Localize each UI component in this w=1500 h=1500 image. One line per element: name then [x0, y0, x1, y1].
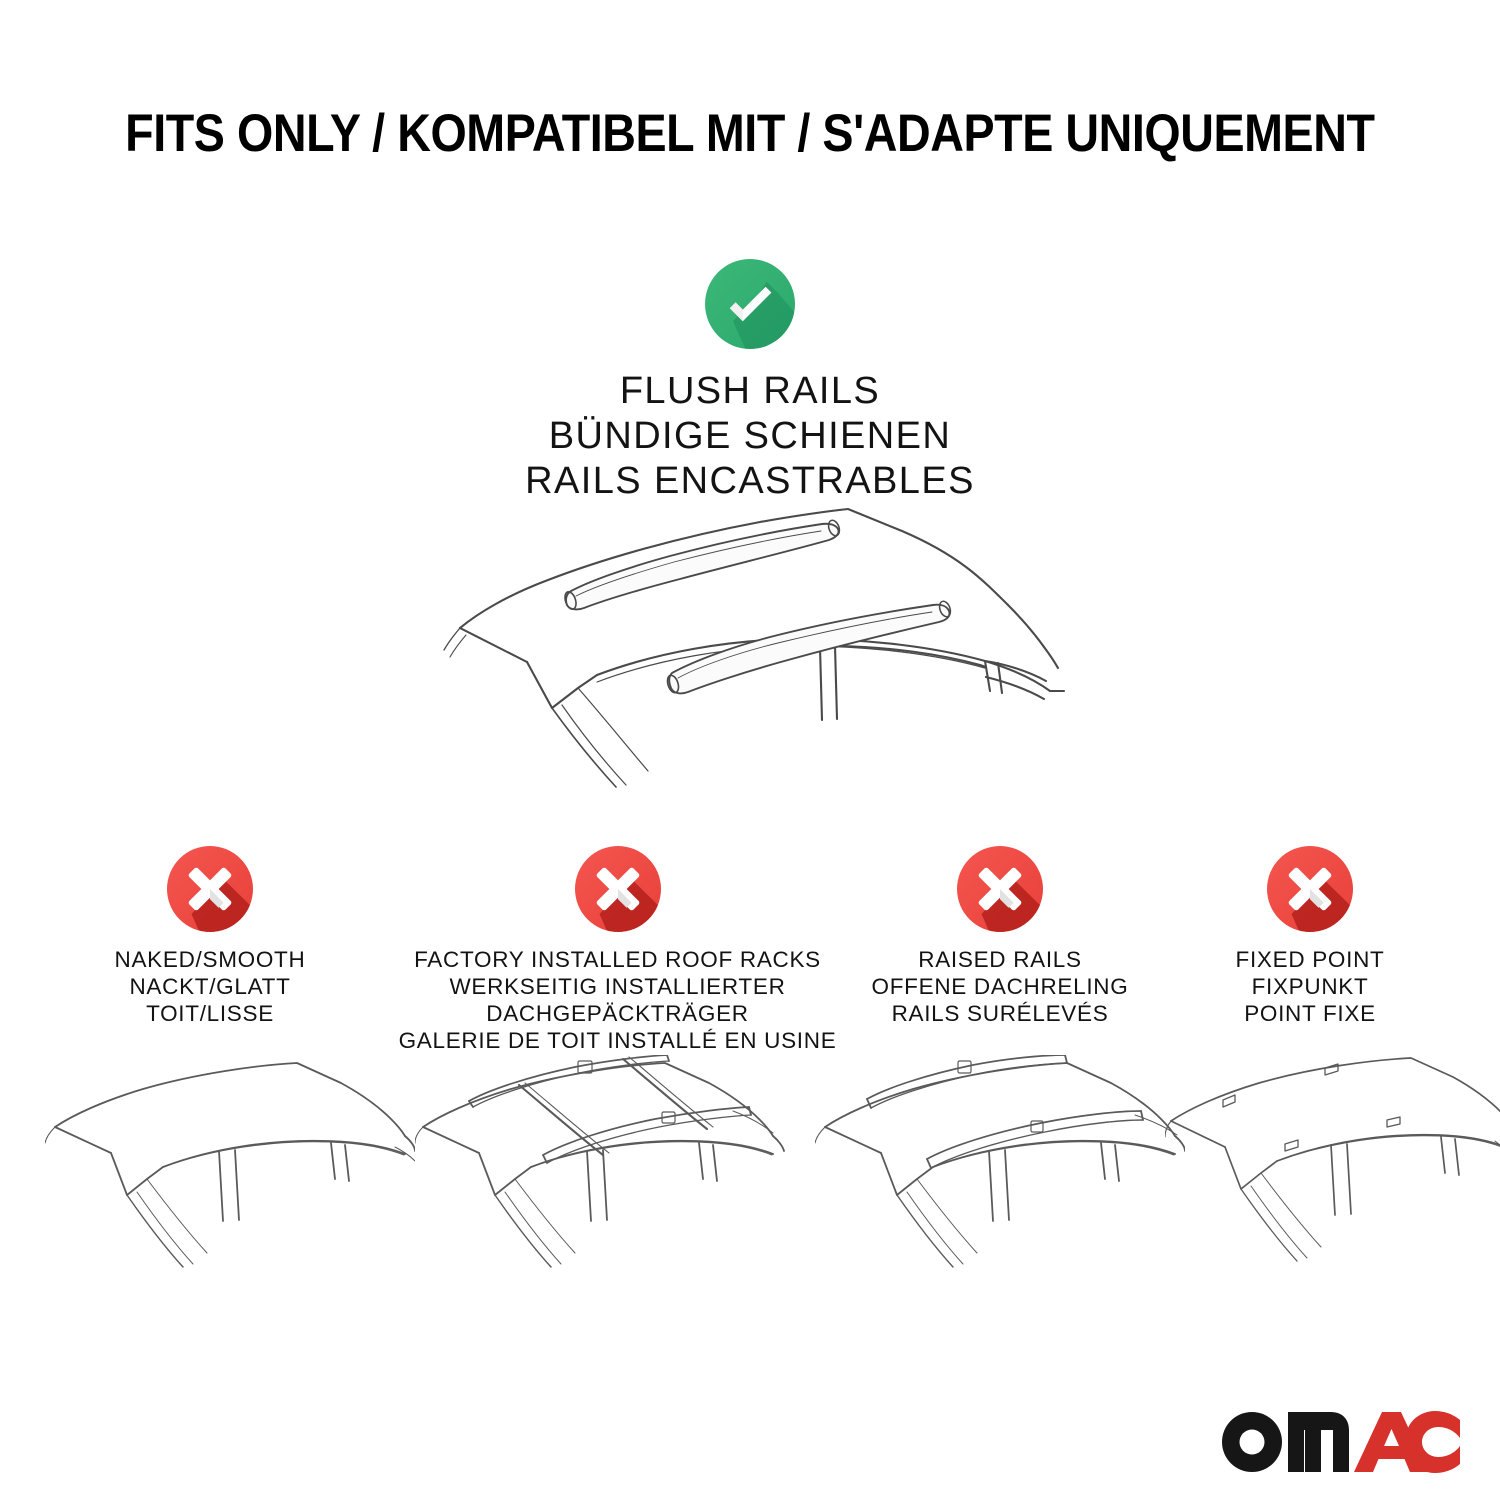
- red-x-circle-icon: [1266, 845, 1354, 933]
- red-x-circle-icon: [956, 845, 1044, 933]
- green-check-circle-icon: [704, 258, 796, 350]
- car-roof-factory-roof-racks-illustration: [415, 1055, 810, 1290]
- car-roof-naked-smooth-illustration: [45, 1055, 415, 1290]
- nf-raised-line-fr: RAILS SURÉLEVÉS: [840, 1000, 1160, 1027]
- nf-factory-line-de-1: WERKSEITIG INSTALLIERTER: [385, 973, 850, 1000]
- nf-fixed-line-fr: POINT FIXE: [1155, 1000, 1465, 1027]
- nf-raised-line-en: RAISED RAILS: [840, 946, 1160, 973]
- nf-factory-line-en: FACTORY INSTALLED ROOF RACKS: [385, 946, 850, 973]
- nf-raised-line-de: OFFENE DACHRELING: [840, 973, 1160, 1000]
- no-fit-labels-raised-rails: RAISED RAILS OFFENE DACHRELING RAILS SUR…: [840, 946, 1160, 1027]
- no-fit-column-naked-smooth: NAKED/SMOOTH NACKT/GLATT TOIT/LISSE: [35, 845, 385, 1027]
- no-fit-labels-fixed-point: FIXED POINT FIXPUNKT POINT FIXE: [1155, 946, 1465, 1027]
- omac-logo: [1215, 1398, 1460, 1478]
- fits-line-de: BÜNDIGE SCHIENEN: [0, 414, 1500, 459]
- red-x-circle-icon: [166, 845, 254, 933]
- no-fit-column-raised-rails: RAISED RAILS OFFENE DACHRELING RAILS SUR…: [840, 845, 1160, 1027]
- no-fit-column-factory-roof-racks: FACTORY INSTALLED ROOF RACKS WERKSEITIG …: [385, 845, 850, 1054]
- fits-labels: FLUSH RAILS BÜNDIGE SCHIENEN RAILS ENCAS…: [0, 369, 1500, 504]
- page-title: FITS ONLY / KOMPATIBEL MIT / S'ADAPTE UN…: [125, 104, 1374, 164]
- nf-factory-line-de-2: DACHGEPÄCKTRÄGER: [385, 1000, 850, 1027]
- nf-naked-line-fr: TOIT/LISSE: [35, 1000, 385, 1027]
- fits-section: FLUSH RAILS BÜNDIGE SCHIENEN RAILS ENCAS…: [0, 258, 1500, 504]
- car-roof-raised-rails-illustration: [815, 1055, 1185, 1290]
- logo-letter-o: [1222, 1412, 1282, 1472]
- nf-naked-line-en: NAKED/SMOOTH: [35, 946, 385, 973]
- no-fit-column-fixed-point: FIXED POINT FIXPUNKT POINT FIXE: [1155, 845, 1465, 1027]
- logo-letter-m: [1288, 1412, 1349, 1472]
- nf-factory-line-fr: GALERIE DE TOIT INSTALLÉ EN USINE: [385, 1027, 850, 1054]
- red-x-circle-icon: [574, 845, 662, 933]
- nf-fixed-line-en: FIXED POINT: [1155, 946, 1465, 973]
- car-roof-fixed-point-illustration: [1165, 1055, 1500, 1290]
- fits-line-en: FLUSH RAILS: [0, 369, 1500, 414]
- nf-fixed-line-de: FIXPUNKT: [1155, 973, 1465, 1000]
- header: FITS ONLY / KOMPATIBEL MIT / S'ADAPTE UN…: [0, 104, 1500, 164]
- does-not-fit-section: NAKED/SMOOTH NACKT/GLATT TOIT/LISSE: [0, 845, 1500, 1085]
- no-fit-labels-naked-smooth: NAKED/SMOOTH NACKT/GLATT TOIT/LISSE: [35, 946, 385, 1027]
- nf-naked-line-de: NACKT/GLATT: [35, 973, 385, 1000]
- no-fit-labels-factory-roof-racks: FACTORY INSTALLED ROOF RACKS WERKSEITIG …: [385, 946, 850, 1054]
- logo-letter-c: [1405, 1411, 1460, 1473]
- car-roof-with-flush-rails-illustration: [430, 495, 1070, 795]
